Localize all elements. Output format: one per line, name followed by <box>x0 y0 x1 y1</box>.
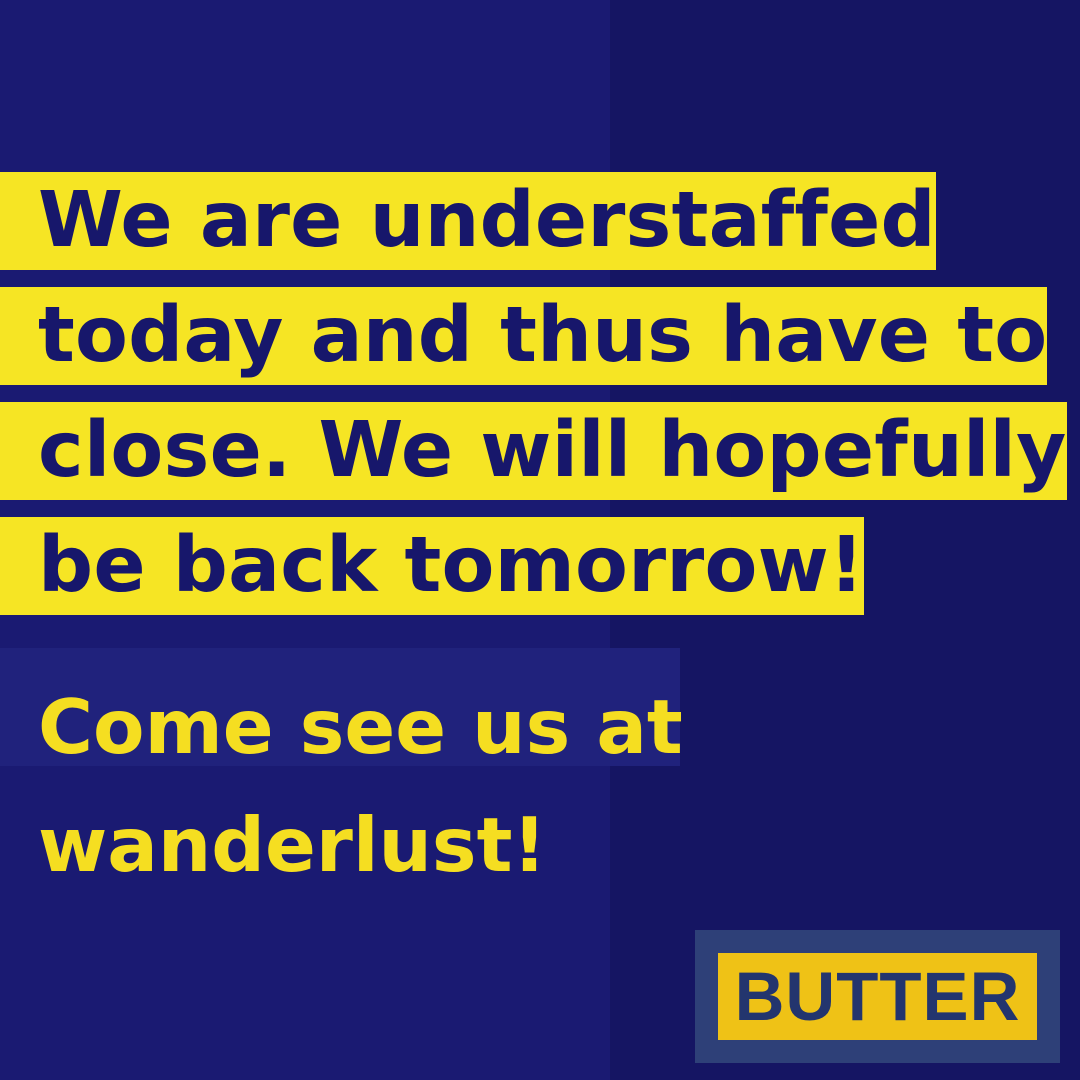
headline-line-3: close. We will hopefully <box>0 402 1067 500</box>
butter-logo: BUTTER <box>695 930 1060 1063</box>
butter-logo-panel: BUTTER <box>718 953 1037 1040</box>
headline-line-2: today and thus have to <box>0 287 1047 385</box>
poster-canvas: We are understaffed today and thus have … <box>0 0 1080 1080</box>
headline-line-1: We are understaffed <box>0 172 936 270</box>
subhead-block: Come see us at wanderlust! <box>0 668 1080 904</box>
butter-logo-text: BUTTER <box>735 962 1021 1031</box>
headline-block: We are understaffed today and thus have … <box>0 172 1080 632</box>
subhead-line-2: wanderlust! <box>0 786 1080 904</box>
subhead-line-1: Come see us at <box>0 668 1080 786</box>
headline-line-4: be back tomorrow! <box>0 517 864 615</box>
